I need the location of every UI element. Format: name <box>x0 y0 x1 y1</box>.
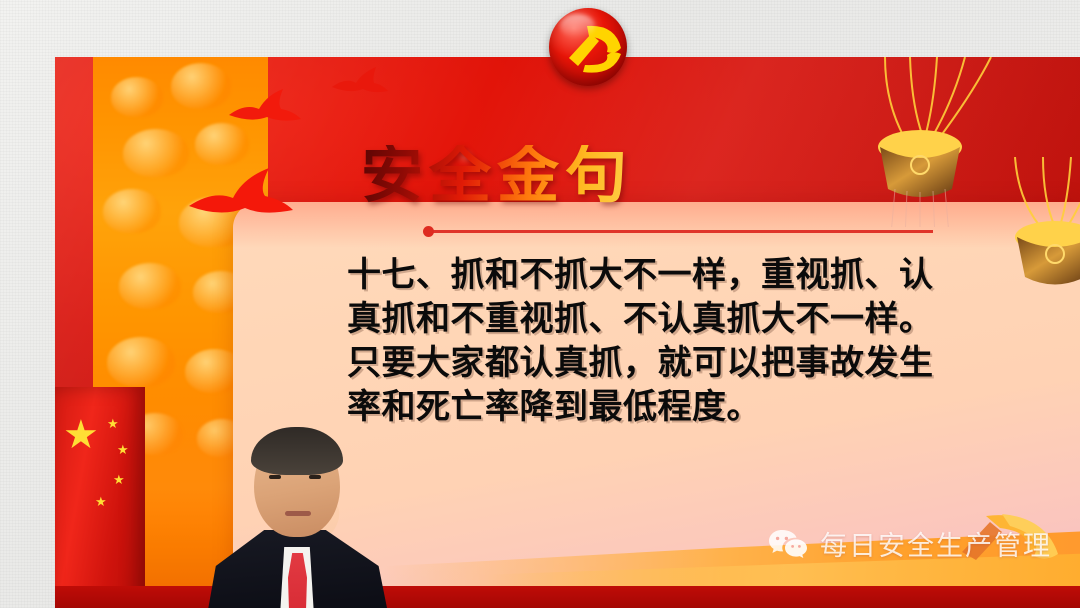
portrait-mouth <box>285 511 311 516</box>
portrait-eye <box>269 475 281 479</box>
emblem-shine <box>560 14 595 37</box>
dove-icon <box>225 85 305 131</box>
quote-text: 十七、抓和不抓大不一样，重视抓、认 真抓和不重视抓、不认真抓大不一样。 只要大家… <box>347 253 987 429</box>
divider-line <box>430 230 933 233</box>
quote-line: 十七、抓和不抓大不一样，重视抓、认 <box>347 253 987 297</box>
china-flag-icon: ★ ★ ★ ★ ★ <box>55 387 145 608</box>
quote-line: 真抓和不重视抓、不认真抓大不一样。 <box>347 297 987 341</box>
quote-line: 率和死亡率降到最低程度。 <box>347 385 987 429</box>
leader-portrait <box>185 427 405 608</box>
watermark: 每日安全生产管理 <box>768 524 1052 563</box>
portrait-eye <box>309 475 321 479</box>
divider-dot <box>423 226 434 237</box>
red-stage-background: ★ ★ ★ ★ ★ <box>55 57 1080 608</box>
portrait-hair <box>251 427 343 475</box>
watermark-text: 每日安全生产管理 <box>820 524 1052 563</box>
quote-line: 只要大家都认真抓，就可以把事故发生 <box>347 341 987 385</box>
dove-icon <box>330 65 390 101</box>
page-title: 安全金句 <box>361 145 633 207</box>
portrait-tie <box>288 553 307 608</box>
party-emblem-icon <box>549 8 627 86</box>
wechat-icon <box>768 528 808 560</box>
dove-icon <box>185 162 295 232</box>
lantern-icon <box>985 157 1080 307</box>
slide-canvas: ★ ★ ★ ★ ★ <box>0 0 1080 608</box>
